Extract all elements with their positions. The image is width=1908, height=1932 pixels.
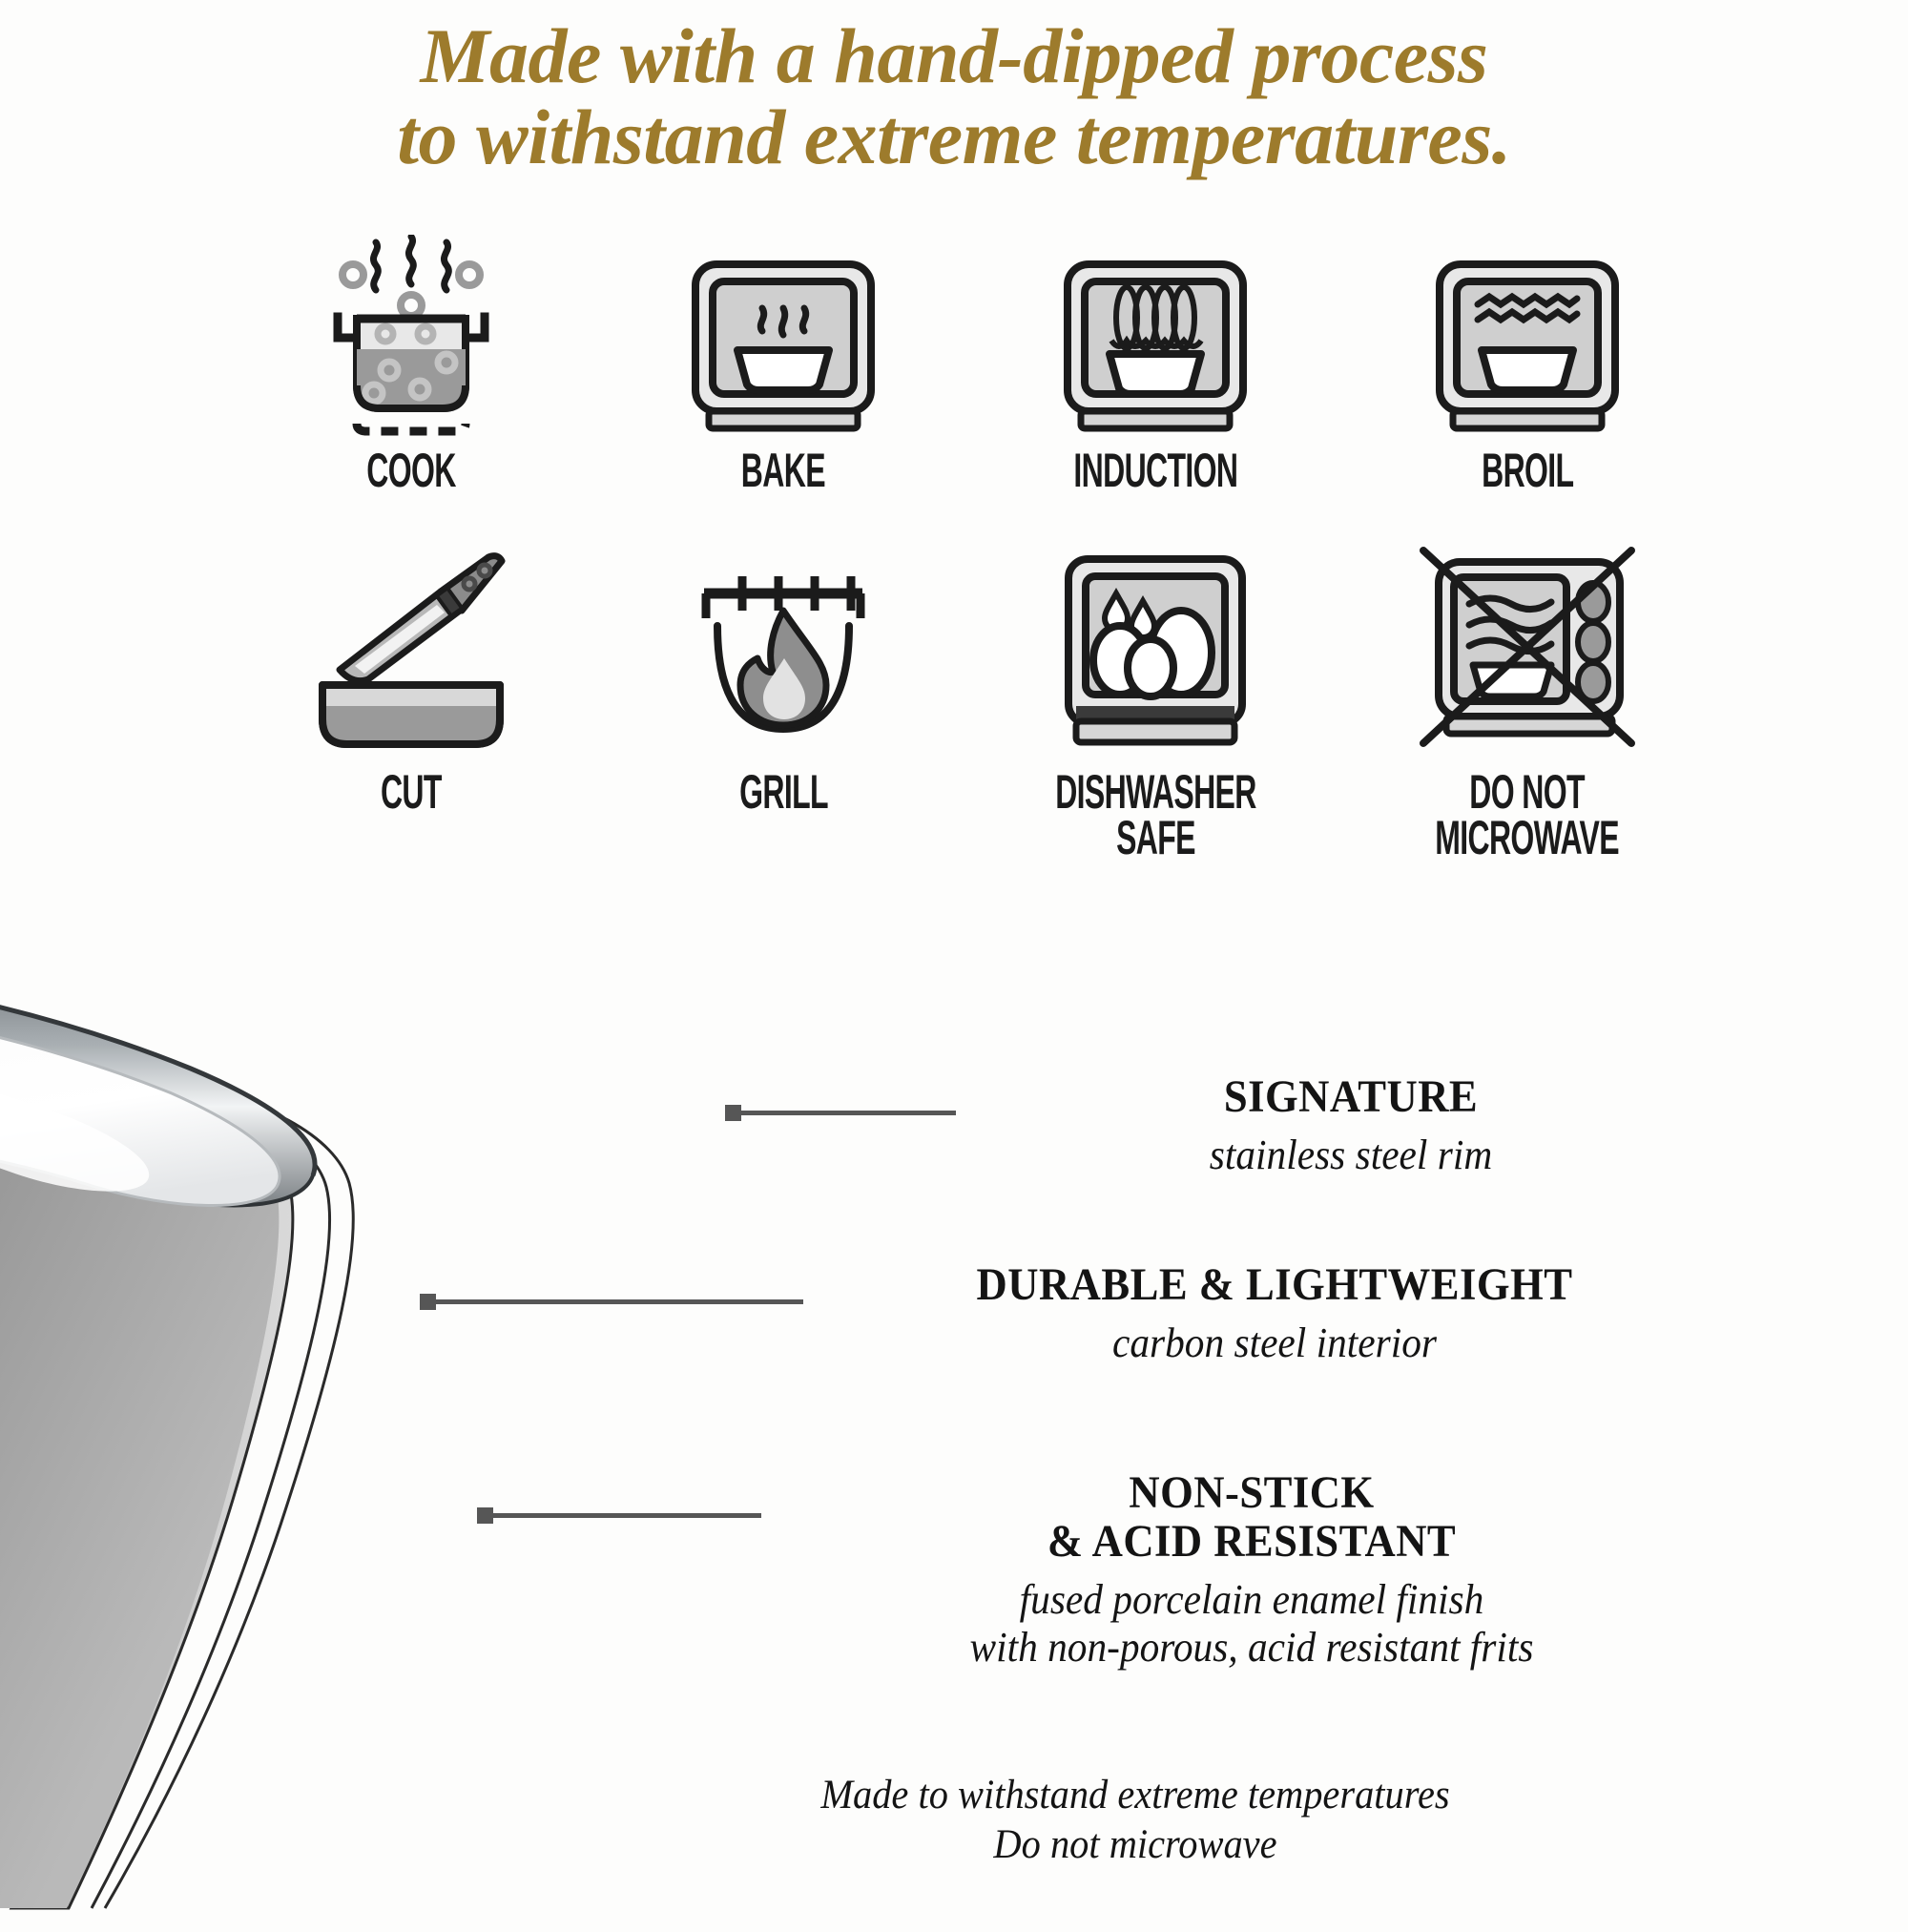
footer-note: Made to withstand extreme temperatures D… <box>570 1771 1700 1869</box>
callout-durable-title: DURABLE & LIGHTWEIGHT <box>849 1261 1701 1310</box>
knife-over-dish-icon <box>301 547 521 761</box>
dishwasher-icon <box>1055 547 1255 761</box>
icon-cell-broil[interactable]: BROIL <box>1341 235 1713 493</box>
grill-flame-icon <box>683 547 883 761</box>
leader-line-nonstick <box>488 1513 761 1518</box>
icon-row-cooking: COOK BAKE <box>225 235 1713 493</box>
callout-signature: SIGNATURE stainless steel rim <box>969 1073 1732 1179</box>
icon-cell-microwave[interactable]: DO NOT MICROWAVE <box>1341 547 1713 861</box>
pot-with-steam-icon <box>301 235 521 440</box>
callout-nonstick-title: NON-STICK & ACID RESISTANT <box>808 1469 1695 1567</box>
oven-broil-icon <box>1432 235 1623 440</box>
callout-durable: DURABLE & LIGHTWEIGHT carbon steel inter… <box>817 1261 1732 1367</box>
callout-nonstick: NON-STICK & ACID RESISTANT fused porcela… <box>775 1469 1729 1672</box>
oven-induction-icon <box>1060 235 1251 440</box>
icon-label-broil: BROIL <box>1482 447 1573 493</box>
icon-label-grill: GRILL <box>739 769 828 815</box>
headline-line-1: Made with a hand-dipped process <box>421 12 1488 99</box>
page-headline: Made with a hand-dipped process to withs… <box>0 15 1908 178</box>
leader-line-durable <box>431 1299 803 1304</box>
callout-nonstick-sub: fused porcelain enamel finish with non-p… <box>803 1576 1700 1672</box>
icon-label-bake: BAKE <box>741 447 825 493</box>
leader-line-signature <box>736 1111 956 1115</box>
icon-cell-dishwasher[interactable]: DISHWASHER SAFE <box>969 547 1341 861</box>
icon-label-induction: INDUCTION <box>1073 447 1237 493</box>
icon-cell-cook[interactable]: COOK <box>225 235 597 493</box>
icon-label-do-not-microwave: DO NOT MICROWAVE <box>1436 769 1620 861</box>
capability-icon-grid: COOK BAKE <box>225 235 1713 861</box>
icon-cell-bake[interactable]: BAKE <box>597 235 969 493</box>
icon-label-dishwasher-safe: DISHWASHER SAFE <box>1055 769 1256 861</box>
cookware-cutaway-illustration <box>0 782 706 1927</box>
callout-durable-sub: carbon steel interior <box>844 1319 1705 1367</box>
icon-label-cook: COOK <box>366 447 455 493</box>
callout-signature-sub: stainless steel rim <box>992 1132 1710 1179</box>
infographic-root: Made with a hand-dipped process to withs… <box>0 0 1908 1908</box>
callout-signature-title: SIGNATURE <box>996 1073 1706 1122</box>
headline-line-2: to withstand extreme temperatures. <box>0 96 1908 177</box>
oven-bake-icon <box>688 235 879 440</box>
icon-cell-induction[interactable]: INDUCTION <box>969 235 1341 493</box>
microwave-icon <box>1418 547 1637 761</box>
